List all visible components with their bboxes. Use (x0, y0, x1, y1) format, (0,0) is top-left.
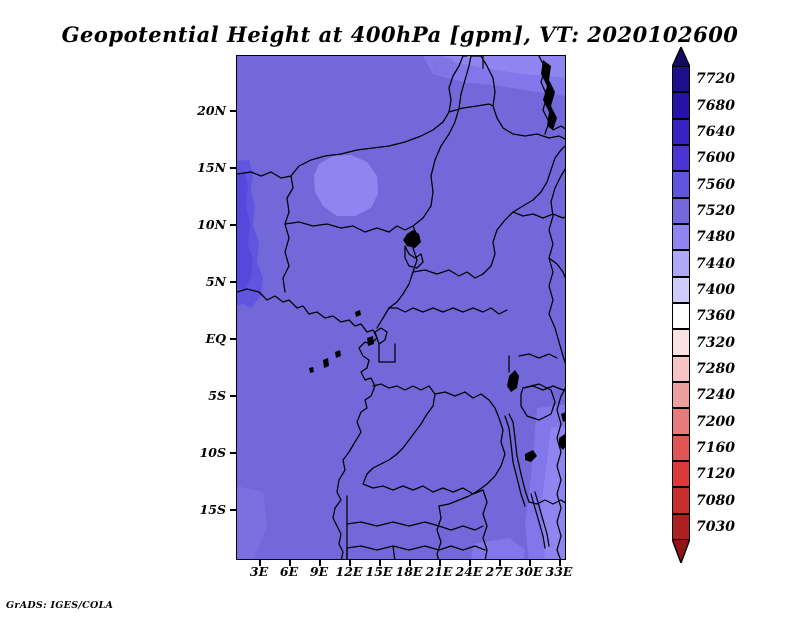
lake-albert (507, 370, 519, 392)
lon-label-9E: 9E (304, 564, 334, 579)
colorbar-label-7520: 7520 (696, 203, 735, 219)
lon-label-24E: 24E (454, 564, 484, 579)
colorbar-segment-7030 (672, 514, 690, 540)
lat-label-5N: 5N (196, 274, 226, 289)
lon-label-3E: 3E (244, 564, 274, 579)
border-niger-nigeria (285, 222, 413, 232)
lake-tanganyika-2 (505, 416, 525, 506)
lon-tick-33E (559, 560, 561, 566)
island-annobon (309, 367, 314, 373)
colorbar-label-7480: 7480 (696, 229, 735, 245)
lat-label-20N: 20N (196, 103, 226, 118)
contour-band-low-south (471, 538, 525, 560)
lon-tick-30E (529, 560, 531, 566)
map-coastlines-and-borders (237, 56, 566, 560)
lon-label-18E: 18E (394, 564, 424, 579)
lake-chad (403, 230, 421, 248)
lat-tick-10N (230, 224, 236, 226)
border-ethiopia-kenya (513, 212, 566, 218)
lon-tick-9E (319, 560, 321, 566)
border-gabon (363, 384, 435, 484)
island-small-1 (355, 310, 361, 317)
colorbar-segment-7560 (672, 171, 690, 197)
colorbar-label-7640: 7640 (696, 124, 735, 140)
colorbar: 7720768076407600756075207480744074007360… (672, 66, 690, 540)
lat-tick-20N (230, 110, 236, 112)
lon-tick-21E (439, 560, 441, 566)
colorbar-label-7160: 7160 (696, 440, 735, 456)
colorbar-segment-7680 (672, 92, 690, 118)
map-plot-area (236, 55, 566, 560)
colorbar-label-7280: 7280 (696, 361, 735, 377)
border-zambia-west (347, 522, 439, 526)
contour-band-low-north (314, 155, 378, 216)
border-uganda-kenya (519, 354, 557, 358)
colorbar-segment-7520 (672, 198, 690, 224)
colorbar-segment-7280 (672, 356, 690, 382)
colorbar-label-7080: 7080 (696, 493, 735, 509)
lon-tick-18E (409, 560, 411, 566)
island-saotome (323, 358, 329, 368)
lat-tick-EQ (230, 338, 236, 340)
colorbar-segment-7200 (672, 408, 690, 434)
colorbar-segment-7320 (672, 329, 690, 355)
colorbar-top-arrow (672, 47, 690, 67)
colorbar-bottom-arrow (672, 539, 690, 563)
lat-tick-15S (230, 509, 236, 511)
colorbar-label-7600: 7600 (696, 150, 735, 166)
colorbar-label-7200: 7200 (696, 414, 735, 430)
colorbar-segment-7240 (672, 382, 690, 408)
border-drc-angola (363, 484, 483, 494)
lat-label-10N: 10N (196, 217, 226, 232)
lon-label-27E: 27E (484, 564, 514, 579)
lat-label-10S: 10S (196, 445, 226, 460)
lon-label-30E: 30E (514, 564, 544, 579)
border-angola-zambia (437, 506, 441, 560)
colorbar-label-7240: 7240 (696, 387, 735, 403)
page-title: Geopotential Height at 400hPa [gpm], VT:… (0, 22, 800, 47)
border-zambia-zim (439, 526, 483, 530)
lon-label-21E: 21E (424, 564, 454, 579)
coastline-horn (553, 126, 566, 130)
contour-bands (237, 56, 566, 560)
lat-label-5S: 5S (196, 388, 226, 403)
lon-tick-24E (469, 560, 471, 566)
lon-tick-3E (259, 560, 261, 566)
lon-label-6E: 6E (274, 564, 304, 579)
lon-label-12E: 12E (334, 564, 364, 579)
grads-credit: GrADS: IGES/COLA (6, 600, 113, 611)
map-overlay-svg (237, 56, 566, 560)
lat-tick-5S (230, 395, 236, 397)
colorbar-label-7360: 7360 (696, 308, 735, 324)
coastline-east-africa (549, 166, 566, 368)
border-cameroon-car (413, 270, 483, 278)
colorbar-segment-7080 (672, 487, 690, 513)
island-bioko (367, 336, 374, 346)
colorbar-label-7680: 7680 (696, 98, 735, 114)
lon-tick-27E (499, 560, 501, 566)
border-chad-north (449, 104, 493, 112)
colorbar-segment-7120 (672, 461, 690, 487)
border-car-congo (389, 308, 507, 314)
lat-label-15N: 15N (196, 160, 226, 175)
colorbar-label-7320: 7320 (696, 335, 735, 351)
colorbar-segment-7400 (672, 277, 690, 303)
border-equatorial-guinea (379, 344, 395, 362)
colorbar-label-7400: 7400 (696, 282, 735, 298)
colorbar-segment-7160 (672, 435, 690, 461)
lat-label-EQ: EQ (196, 331, 226, 346)
border-south-region (347, 546, 485, 560)
lat-tick-5N (230, 281, 236, 283)
lon-label-33E: 33E (544, 564, 574, 579)
colorbar-segment-7600 (672, 145, 690, 171)
lon-tick-6E (289, 560, 291, 566)
colorbar-label-7440: 7440 (696, 256, 735, 272)
lat-tick-10S (230, 452, 236, 454)
colorbar-segment-7640 (672, 119, 690, 145)
island-principe (335, 350, 341, 358)
colorbar-label-7120: 7120 (696, 466, 735, 482)
border-south-region-2 (393, 546, 395, 560)
colorbar-segment-7720 (672, 66, 690, 92)
lat-label-15S: 15S (196, 502, 226, 517)
colorbar-segment-7440 (672, 250, 690, 276)
lat-tick-15N (230, 167, 236, 169)
lon-label-15E: 15E (364, 564, 394, 579)
lon-tick-12E (349, 560, 351, 566)
colorbar-label-7720: 7720 (696, 71, 735, 87)
coastline-biafra-inlet (375, 328, 387, 344)
border-car-sudan (483, 144, 566, 274)
contour-band-low-sw (237, 486, 267, 560)
colorbar-label-7560: 7560 (696, 177, 735, 193)
colorbar-segment-7480 (672, 224, 690, 250)
colorbar-segment-7360 (672, 303, 690, 329)
lon-tick-15E (379, 560, 381, 566)
colorbar-label-7030: 7030 (696, 519, 735, 535)
